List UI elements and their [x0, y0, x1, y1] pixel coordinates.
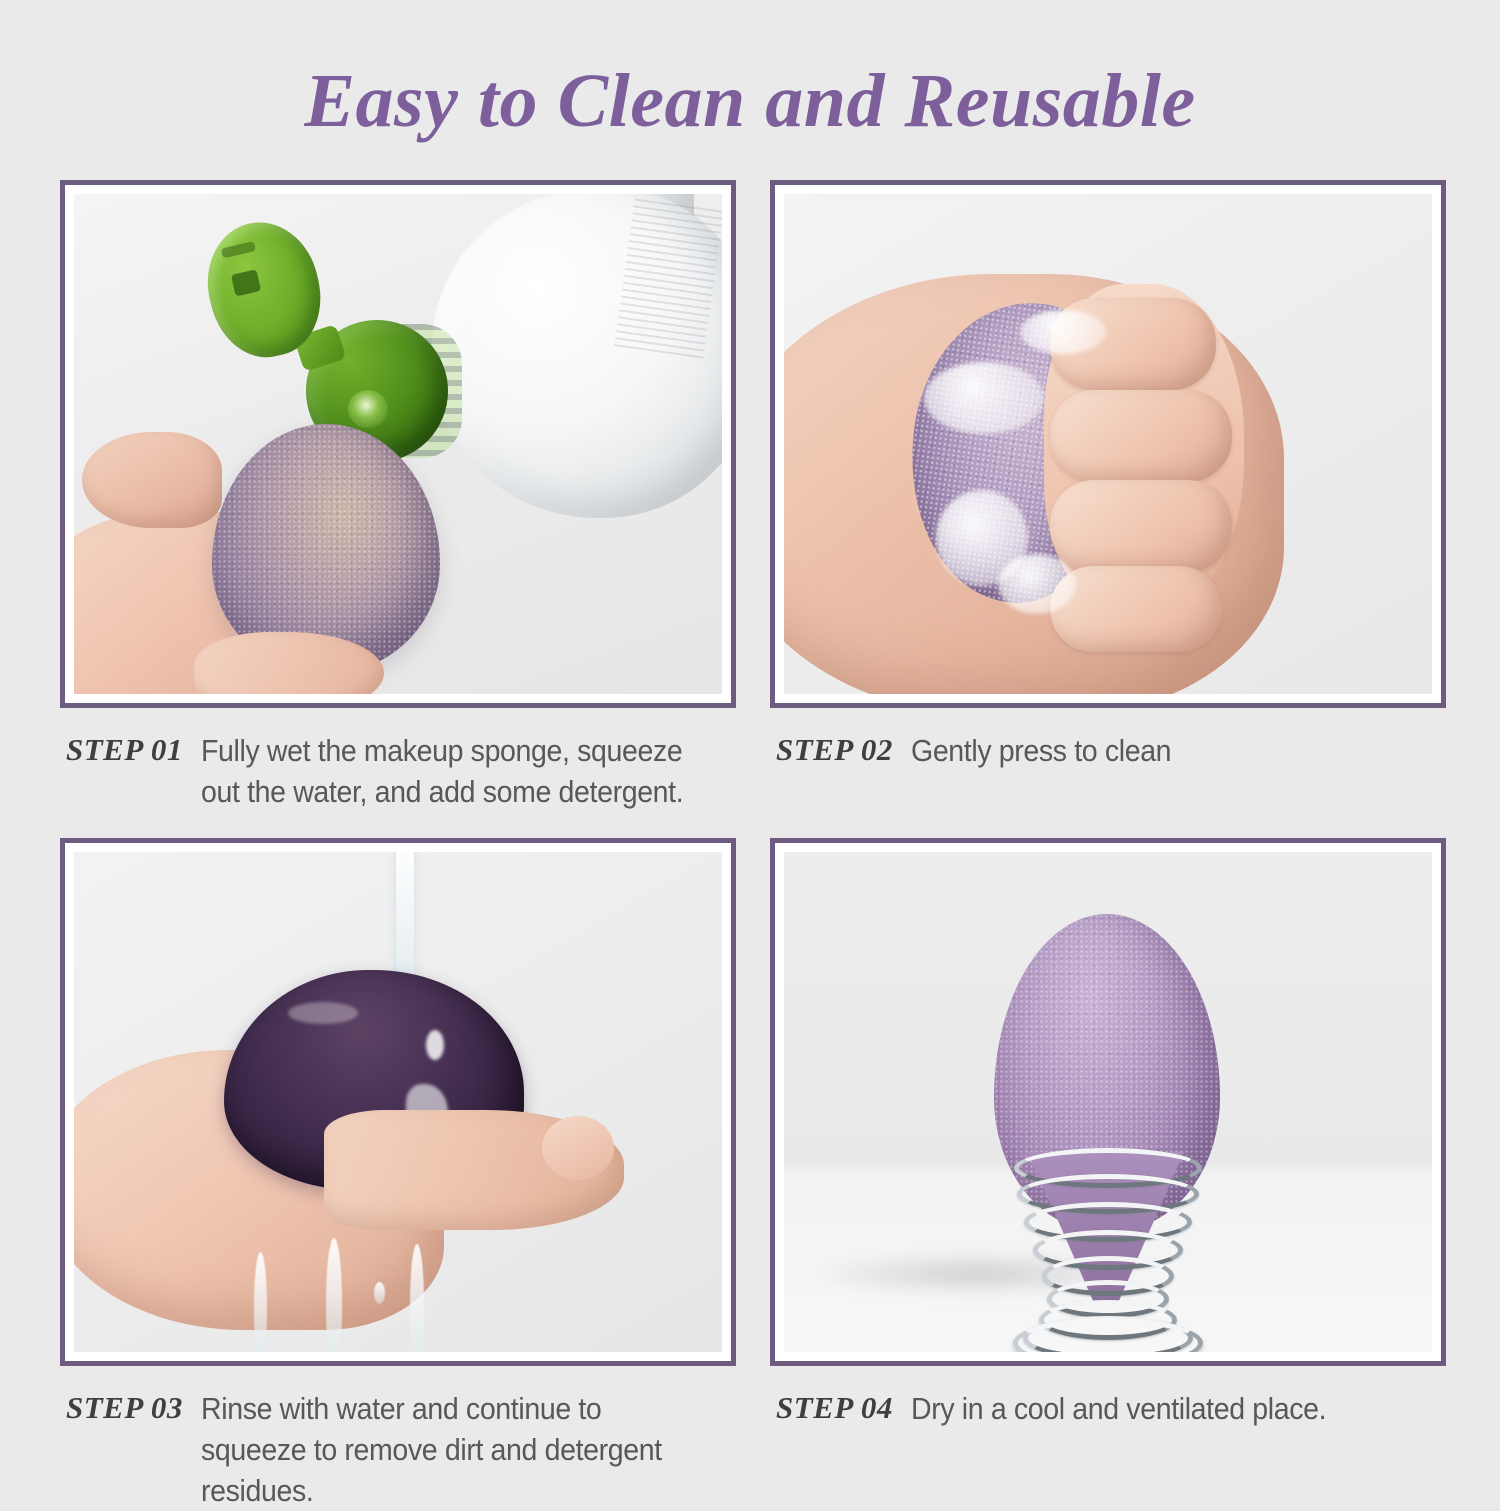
step-03-photo	[74, 852, 722, 1352]
step-04-photo	[784, 852, 1432, 1352]
steps-row-top: STEP 01 Fully wet the makeup sponge, squ…	[60, 180, 1446, 812]
step-01-caption: STEP 01 Fully wet the makeup sponge, squ…	[60, 730, 736, 812]
hand-finger-icon	[1050, 480, 1232, 572]
hand-finger-icon	[1050, 390, 1232, 482]
step-03-photo-frame	[60, 838, 736, 1366]
step-04-photo-frame	[770, 838, 1446, 1366]
step-02-caption: STEP 02 Gently press to clean	[770, 730, 1446, 771]
hand-fingers-icon	[324, 1110, 624, 1230]
water-stream-icon	[396, 852, 414, 986]
soap-foam-icon	[998, 554, 1076, 614]
step-02-label: STEP 02	[776, 730, 911, 770]
water-droplet-icon	[374, 1282, 385, 1304]
steps-grid: STEP 01 Fully wet the makeup sponge, squ…	[60, 180, 1446, 1511]
page-title: Easy to Clean and Reusable	[0, 58, 1500, 145]
step-01-text: Fully wet the makeup sponge, squeeze out…	[201, 730, 693, 812]
steps-row-bottom: STEP 03 Rinse with water and continue to…	[60, 838, 1446, 1511]
step-02-text: Gently press to clean	[911, 730, 1403, 771]
cap-spout-icon	[348, 390, 388, 428]
step-card-03: STEP 03 Rinse with water and continue to…	[60, 838, 736, 1511]
water-droplet-icon	[410, 1244, 424, 1352]
infographic-page: Easy to Clean and Reusable	[0, 0, 1500, 1500]
water-droplet-icon	[254, 1252, 267, 1352]
sponge-highlight-icon	[288, 1002, 358, 1024]
step-04-caption: STEP 04 Dry in a cool and ventilated pla…	[770, 1388, 1446, 1429]
step-03-caption: STEP 03 Rinse with water and continue to…	[60, 1388, 736, 1511]
step-03-text: Rinse with water and continue to squeeze…	[201, 1388, 693, 1511]
soap-foam-icon	[924, 362, 1044, 434]
sponge-highlight-icon	[426, 1030, 444, 1060]
step-card-04: STEP 04 Dry in a cool and ventilated pla…	[770, 838, 1446, 1511]
hand-finger-icon	[1050, 566, 1222, 652]
step-card-02: STEP 02 Gently press to clean	[770, 180, 1446, 812]
step-01-label: STEP 01	[66, 730, 201, 770]
step-04-text: Dry in a cool and ventilated place.	[911, 1388, 1403, 1429]
step-02-photo	[784, 194, 1432, 694]
step-01-photo	[74, 194, 722, 694]
step-02-photo-frame	[770, 180, 1446, 708]
hand-thumb-icon	[82, 432, 222, 528]
step-03-label: STEP 03	[66, 1388, 201, 1428]
step-04-label: STEP 04	[776, 1388, 911, 1428]
step-01-photo-frame	[60, 180, 736, 708]
soap-foam-icon	[1020, 310, 1106, 354]
step-card-01: STEP 01 Fully wet the makeup sponge, squ…	[60, 180, 736, 812]
